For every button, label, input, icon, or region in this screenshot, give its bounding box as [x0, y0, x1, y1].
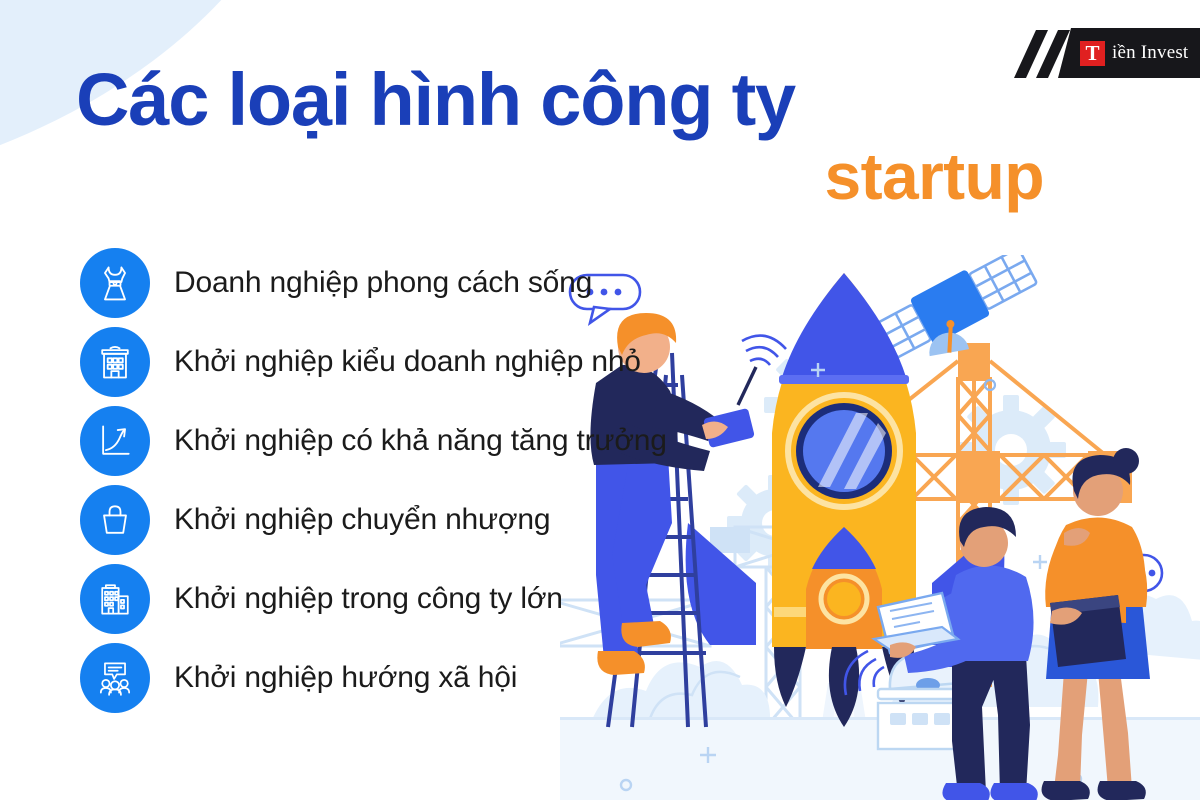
list-item: Doanh nghiệp phong cách sống [80, 248, 800, 318]
community-chat-icon [80, 643, 150, 713]
logo-text: iền Invest [1112, 42, 1188, 64]
shoe [990, 783, 1037, 800]
list-item-label: Khởi nghiệp hướng xã hội [174, 661, 517, 695]
list-item-label: Khởi nghiệp kiểu doanh nghiệp nhỏ [174, 345, 641, 379]
infographic-canvas: T iền Invest Các loại hình công ty start… [0, 0, 1200, 800]
list-item: Khởi nghiệp có khả năng tăng trưởng [80, 406, 800, 476]
page-title: Các loại hình công ty [76, 62, 1116, 137]
page-title-accent: startup [76, 143, 1116, 209]
growth-chart-icon [80, 406, 150, 476]
list-item-label: Khởi nghiệp trong công ty lớn [174, 582, 563, 616]
shoe [942, 783, 989, 800]
folder [1050, 595, 1126, 667]
dress-icon [80, 248, 150, 318]
office-buildings-icon [80, 564, 150, 634]
list-item-label: Khởi nghiệp có khả năng tăng trưởng [174, 424, 667, 458]
hair-bun [1113, 448, 1139, 474]
list-item-label: Doanh nghiệp phong cách sống [174, 266, 592, 300]
list-item: Khởi nghiệp chuyển nhượng [80, 485, 800, 555]
headline-block: Các loại hình công ty startup [76, 62, 1116, 209]
list-item: Khởi nghiệp trong công ty lớn [80, 564, 800, 634]
shoe [1042, 781, 1090, 800]
startup-types-list: Doanh nghiệp phong cách sống Khởi nghiệp [80, 248, 800, 722]
list-item-label: Khởi nghiệp chuyển nhượng [174, 503, 550, 537]
shoe [1098, 781, 1146, 800]
list-item: Khởi nghiệp kiểu doanh nghiệp nhỏ [80, 327, 800, 397]
small-building-icon [80, 327, 150, 397]
list-item: Khởi nghiệp hướng xã hội [80, 643, 800, 713]
shopping-bag-icon [80, 485, 150, 555]
